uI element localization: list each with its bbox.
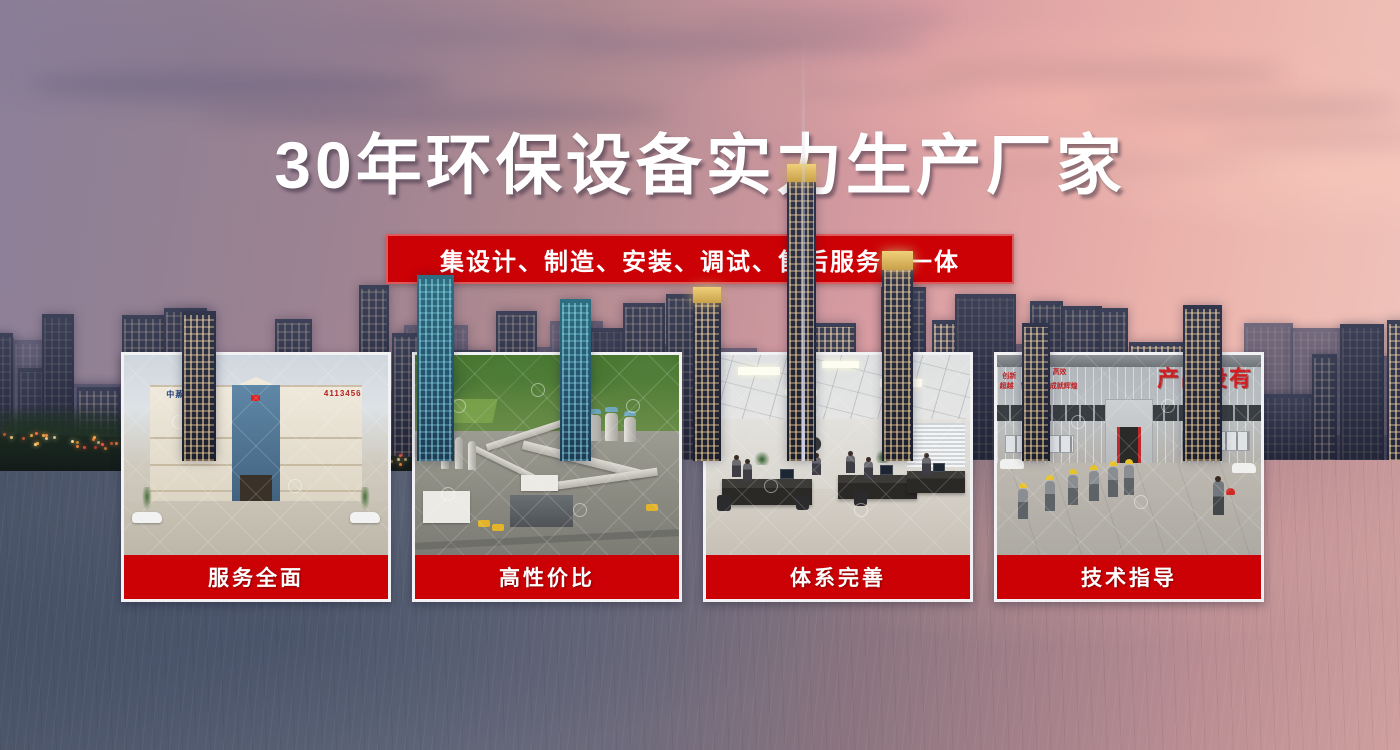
company-office-building-photo: 中蒸机械 4113456 (124, 355, 388, 555)
card-label: 服务全面 (124, 555, 388, 599)
cloud-shape (1092, 96, 1400, 118)
cloud-shape (924, 61, 1288, 85)
skyline-building (1340, 324, 1384, 461)
shore-light (53, 436, 56, 439)
shore-light (76, 445, 79, 448)
shore-light (101, 443, 104, 446)
skyline-building (1387, 320, 1400, 461)
cloud-shape (28, 70, 448, 100)
tower-crown-light (693, 287, 721, 303)
tower-crown-light (882, 251, 913, 270)
office-interior-photo (706, 355, 970, 555)
subtitle-bar: 集设计、制造、安装、调试、售后服务于一体 (386, 234, 1014, 284)
feature-card[interactable]: 体系完善 (703, 352, 973, 602)
skyline-landmark-tower (1183, 305, 1222, 461)
promotional-banner: 30年环保设备实力生产厂家 集设计、制造、安装、调试、售后服务于一体 中蒸机械 … (0, 0, 1400, 750)
card-label: 高性价比 (415, 555, 679, 599)
skyline-landmark-tower (1022, 323, 1050, 461)
cloud-shape (196, 100, 672, 126)
feature-card[interactable]: 中蒸机械 4113456 服务全面 (121, 352, 391, 602)
card-label-text: 高性价比 (499, 562, 595, 592)
skyline-landmark-tower (417, 275, 453, 461)
cloud-shape (700, 9, 952, 31)
red-helmet-icon (1226, 488, 1235, 495)
shore-light (30, 434, 33, 437)
skyline-landmark-tower (182, 311, 216, 461)
card-label-text: 技术指导 (1081, 562, 1177, 592)
factory-slogan-3: 高效 (1052, 369, 1066, 378)
tower-spire (802, 38, 805, 461)
shore-light (97, 441, 100, 444)
shore-light (92, 438, 95, 441)
shore-light (22, 437, 25, 440)
building-phone-text: 4113456 (324, 389, 362, 398)
cloud-shape (336, 26, 616, 43)
shore-light (45, 434, 48, 437)
skyline-landmark-tower (693, 287, 721, 461)
shore-light (3, 433, 6, 436)
shore-light (115, 442, 118, 445)
shore-light (104, 447, 107, 450)
city-skyline (0, 161, 1400, 461)
factory-slogan-1: 创新 (1002, 373, 1016, 382)
shore-light (110, 442, 113, 445)
card-label-text: 服务全面 (208, 562, 304, 592)
skyline-landmark-tower (882, 251, 913, 461)
shore-light (10, 436, 13, 439)
card-label: 技术指导 (997, 555, 1261, 599)
shore-light (83, 446, 86, 449)
card-label: 体系完善 (706, 555, 970, 599)
factory-sub-slogan-3: 成就辉煌 (1050, 383, 1078, 392)
shore-light (35, 432, 38, 435)
aerial-industrial-plant-photo (415, 355, 679, 555)
shore-light (45, 437, 48, 440)
cloud-shape (560, 30, 924, 56)
shore-light (76, 441, 79, 444)
skyline-landmark-tower (560, 299, 591, 461)
cloud-shape (784, 83, 980, 98)
shore-light (71, 440, 74, 443)
card-label-text: 体系完善 (790, 562, 886, 592)
shore-light (94, 446, 97, 449)
page-title: 30年环保设备实力生产厂家 (0, 132, 1400, 198)
factory-sub-slogan-1: 超越 (1000, 383, 1014, 392)
flag-shape (251, 395, 260, 401)
skyline-building (1312, 354, 1336, 461)
